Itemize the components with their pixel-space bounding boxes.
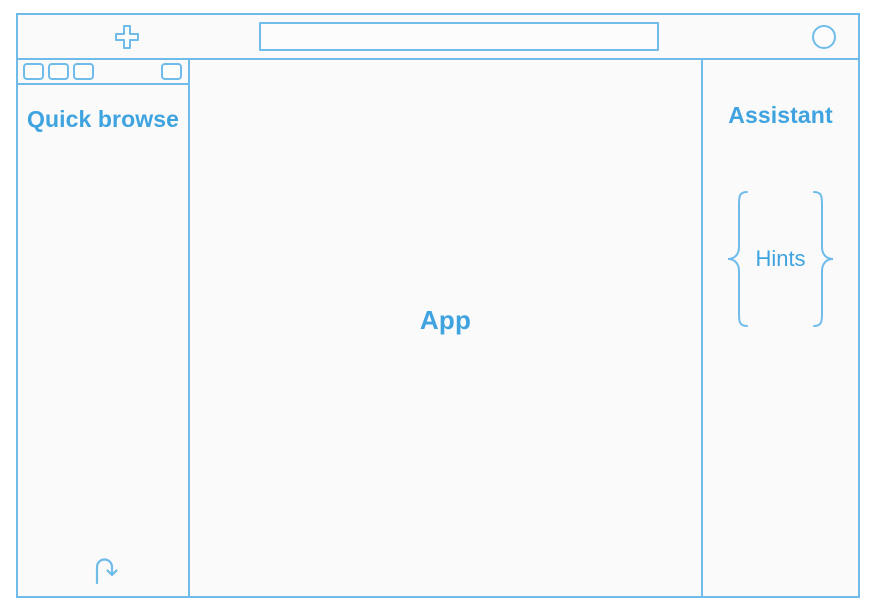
account-avatar-button[interactable] (804, 15, 844, 58)
search-input[interactable] (261, 24, 657, 49)
app-stage-label: App (420, 305, 471, 336)
assistant-title: Assistant (728, 102, 832, 129)
search-field[interactable] (259, 22, 659, 51)
sidebar-control-4[interactable] (161, 63, 182, 80)
top-bar (18, 15, 858, 60)
right-curly-brace-icon (810, 189, 836, 329)
app-stage[interactable]: App (190, 60, 703, 596)
hints-block: Hints (703, 189, 858, 329)
main-body: Quick browse App Assistant Hints (18, 60, 858, 596)
hints-label: Hints (751, 246, 809, 272)
sidebar-control-2[interactable] (48, 63, 69, 80)
sidebar-control-1[interactable] (23, 63, 44, 80)
add-button[interactable] (97, 15, 157, 58)
sidebar-control-3[interactable] (73, 63, 94, 80)
plus-icon (114, 24, 140, 50)
sidebar-control-strip (18, 60, 188, 85)
sidebar-footer (18, 544, 188, 596)
sidebar-content-area (18, 133, 188, 544)
circle-avatar-icon (811, 24, 837, 50)
quick-browse-sidebar: Quick browse (18, 60, 190, 596)
u-turn-arrow-icon[interactable] (90, 554, 120, 586)
left-curly-brace-icon (725, 189, 751, 329)
assistant-panel: Assistant Hints (703, 60, 858, 596)
sidebar-title: Quick browse (18, 105, 188, 133)
app-window-frame: Quick browse App Assistant Hints (16, 13, 860, 598)
